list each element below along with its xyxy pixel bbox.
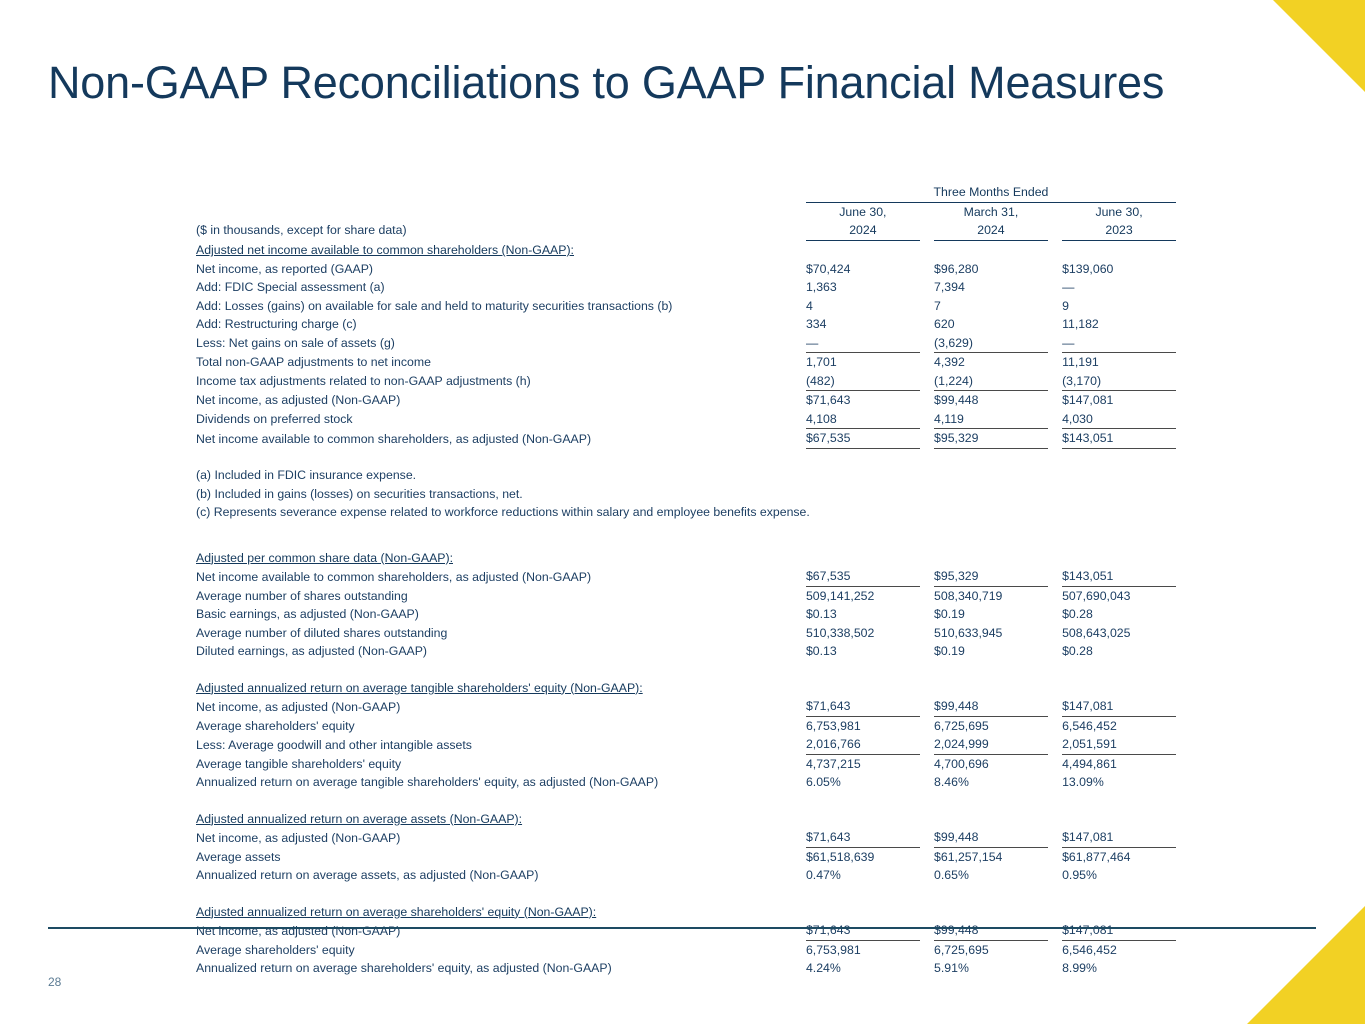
row-label: Net income, as reported (GAAP) [196, 260, 806, 279]
row-label: Net income available to common sharehold… [196, 567, 806, 586]
column-gap [1048, 866, 1062, 885]
row-value: $147,081 [1062, 921, 1176, 940]
row-value: 0.95% [1062, 866, 1176, 885]
spacer-row [196, 885, 1176, 903]
row-label: Annualized return on average assets, as … [196, 866, 806, 885]
spacer-row [196, 448, 1176, 466]
table-row: Average shareholders' equity6,753,9816,7… [196, 716, 1176, 735]
row-value: $147,081 [1062, 828, 1176, 847]
row-value: 508,340,719 [934, 586, 1048, 605]
table-row: Net income, as adjusted (Non-GAAP)$71,64… [196, 828, 1176, 847]
row-value: 4,494,861 [1062, 754, 1176, 773]
row-label: Add: Losses (gains) on available for sal… [196, 297, 806, 316]
row-value: 9 [1062, 297, 1176, 316]
column-gap [1048, 297, 1062, 316]
table-row: Average shareholders' equity6,753,9816,7… [196, 940, 1176, 959]
row-value: 0.47% [806, 866, 920, 885]
row-value: $96,280 [934, 260, 1048, 279]
column-gap [1048, 315, 1062, 334]
column-header-date-1: June 30, [806, 203, 920, 222]
column-gap [920, 959, 934, 978]
table-row: Total non-GAAP adjustments to net income… [196, 353, 1176, 372]
column-gap [1048, 429, 1062, 449]
column-header-row-2: ($ in thousands, except for share data)2… [196, 221, 1176, 240]
row-value: $99,448 [934, 697, 1048, 716]
units-note: ($ in thousands, except for share data) [196, 221, 806, 240]
row-value: 1,363 [806, 278, 920, 297]
spacer-row [196, 531, 1176, 549]
table-row: Net income, as adjusted (Non-GAAP)$71,64… [196, 697, 1176, 716]
row-label: Annualized return on average tangible sh… [196, 773, 806, 792]
spacer-row [196, 661, 1176, 679]
column-gap [920, 754, 934, 773]
column-header-year-1: 2024 [806, 221, 920, 240]
table-row: Net income available to common sharehold… [196, 429, 1176, 449]
column-gap [1048, 372, 1062, 391]
column-header-year-2: 2024 [934, 221, 1048, 240]
table-row: Add: FDIC Special assessment (a)1,3637,3… [196, 278, 1176, 297]
table-row: Average assets$61,518,639$61,257,154$61,… [196, 847, 1176, 866]
row-value: 4,030 [1062, 410, 1176, 429]
row-value: 11,191 [1062, 353, 1176, 372]
row-value: 620 [934, 315, 1048, 334]
column-gap [920, 866, 934, 885]
row-value: 6,753,981 [806, 716, 920, 735]
row-value: 5.91% [934, 959, 1048, 978]
row-label: Add: Restructuring charge (c) [196, 315, 806, 334]
section-heading-row: Adjusted annualized return on average sh… [196, 903, 1176, 922]
footer-divider [48, 927, 1316, 929]
column-gap [920, 567, 934, 586]
row-label: Basic earnings, as adjusted (Non-GAAP) [196, 605, 806, 624]
reconciliation-table: Three Months EndedJune 30,March 31,June … [196, 183, 1176, 978]
column-gap [1048, 391, 1062, 410]
row-label: Income tax adjustments related to non-GA… [196, 372, 806, 391]
row-value: $147,081 [1062, 391, 1176, 410]
column-gap [1048, 260, 1062, 279]
row-value: 8.46% [934, 773, 1048, 792]
row-value: 1,701 [806, 353, 920, 372]
row-value: 7 [934, 297, 1048, 316]
row-value: 510,338,502 [806, 624, 920, 643]
row-value: 2,024,999 [934, 735, 1048, 754]
column-gap [920, 697, 934, 716]
column-gap [1048, 773, 1062, 792]
table-row: Income tax adjustments related to non-GA… [196, 372, 1176, 391]
row-label: Average number of diluted shares outstan… [196, 624, 806, 643]
row-value: $99,448 [934, 828, 1048, 847]
row-value: 0.65% [934, 866, 1048, 885]
row-value: (3,170) [1062, 372, 1176, 391]
row-value: 4,737,215 [806, 754, 920, 773]
row-value: $71,643 [806, 697, 920, 716]
column-gap [920, 391, 934, 410]
column-gap [1048, 605, 1062, 624]
column-gap [1048, 586, 1062, 605]
column-gap [920, 847, 934, 866]
period-header-label: Three Months Ended [806, 183, 1176, 202]
row-label: Net income available to common sharehold… [196, 429, 806, 449]
column-gap [920, 773, 934, 792]
column-gap [920, 828, 934, 847]
column-gap [1048, 221, 1062, 240]
column-gap [1048, 624, 1062, 643]
column-gap [920, 372, 934, 391]
row-label: Diluted earnings, as adjusted (Non-GAAP) [196, 642, 806, 661]
column-gap [920, 334, 934, 353]
column-gap [1048, 828, 1062, 847]
row-value: 4,119 [934, 410, 1048, 429]
column-gap [1048, 278, 1062, 297]
row-value: $0.19 [934, 605, 1048, 624]
row-value: $143,051 [1062, 429, 1176, 449]
row-value: $71,643 [806, 828, 920, 847]
reconciliation-table-container: Three Months EndedJune 30,March 31,June … [196, 183, 1176, 978]
section-heading: Adjusted annualized return on average ta… [196, 679, 806, 698]
row-value: $99,448 [934, 391, 1048, 410]
row-value: $0.28 [1062, 642, 1176, 661]
row-label: Net income, as adjusted (Non-GAAP) [196, 828, 806, 847]
row-value: $61,877,464 [1062, 847, 1176, 866]
row-value: 6,753,981 [806, 940, 920, 959]
column-gap [920, 221, 934, 240]
row-value: $71,643 [806, 921, 920, 940]
row-value: 508,643,025 [1062, 624, 1176, 643]
footnote-row: (c) Represents severance expense related… [196, 503, 1176, 522]
column-gap [1048, 353, 1062, 372]
table-row: Less: Net gains on sale of assets (g)—(3… [196, 334, 1176, 353]
column-header-date-3: June 30, [1062, 203, 1176, 222]
row-label: Average tangible shareholders' equity [196, 754, 806, 773]
section-heading: Adjusted annualized return on average as… [196, 810, 806, 829]
row-value: 7,394 [934, 278, 1048, 297]
row-label: Average shareholders' equity [196, 940, 806, 959]
column-gap [920, 410, 934, 429]
row-label: Dividends on preferred stock [196, 410, 806, 429]
section-heading-row: Adjusted net income available to common … [196, 241, 1176, 260]
row-value: $95,329 [934, 429, 1048, 449]
row-value: $0.19 [934, 642, 1048, 661]
column-gap [920, 353, 934, 372]
row-value: 4 [806, 297, 920, 316]
section-heading: Adjusted net income available to common … [196, 241, 806, 260]
row-label: Net income, as adjusted (Non-GAAP) [196, 697, 806, 716]
column-gap [1048, 921, 1062, 940]
row-value: $67,535 [806, 567, 920, 586]
row-value: $0.28 [1062, 605, 1176, 624]
row-value: 6,725,695 [934, 716, 1048, 735]
column-gap [920, 278, 934, 297]
table-row: Dividends on preferred stock4,1084,1194,… [196, 410, 1176, 429]
column-gap [1048, 410, 1062, 429]
section-heading: Adjusted per common share data (Non-GAAP… [196, 549, 806, 568]
column-gap [920, 716, 934, 735]
row-value: $70,424 [806, 260, 920, 279]
section-heading-row: Adjusted annualized return on average ta… [196, 679, 1176, 698]
footnote-row: (b) Included in gains (losses) on securi… [196, 485, 1176, 504]
table-row: Net income, as adjusted (Non-GAAP)$71,64… [196, 921, 1176, 940]
table-row: Annualized return on average assets, as … [196, 866, 1176, 885]
table-row: Average number of shares outstanding509,… [196, 586, 1176, 605]
page-number: 28 [48, 975, 61, 989]
spacer-row [196, 522, 1176, 531]
section-heading-row: Adjusted annualized return on average as… [196, 810, 1176, 829]
row-value: 2,016,766 [806, 735, 920, 754]
row-value: — [1062, 278, 1176, 297]
row-value: 509,141,252 [806, 586, 920, 605]
row-value: 4,108 [806, 410, 920, 429]
row-label: Net income, as adjusted (Non-GAAP) [196, 921, 806, 940]
row-value: 8.99% [1062, 959, 1176, 978]
row-value: $139,060 [1062, 260, 1176, 279]
column-gap [1048, 716, 1062, 735]
page-title: Non-GAAP Reconciliations to GAAP Financi… [48, 55, 1198, 111]
row-value: $0.13 [806, 605, 920, 624]
column-gap [1048, 203, 1062, 222]
column-gap [920, 940, 934, 959]
row-value: 6,546,452 [1062, 716, 1176, 735]
column-gap [920, 315, 934, 334]
row-label: Add: FDIC Special assessment (a) [196, 278, 806, 297]
row-value: 334 [806, 315, 920, 334]
row-value: 4,700,696 [934, 754, 1048, 773]
footnote-row: (a) Included in FDIC insurance expense. [196, 466, 1176, 485]
column-gap [1048, 697, 1062, 716]
row-value: $147,081 [1062, 697, 1176, 716]
table-row: Diluted earnings, as adjusted (Non-GAAP)… [196, 642, 1176, 661]
column-gap [1048, 735, 1062, 754]
column-gap [920, 429, 934, 449]
column-gap [1048, 847, 1062, 866]
row-value: 510,633,945 [934, 624, 1048, 643]
column-header-row-1: June 30,March 31,June 30, [196, 203, 1176, 222]
table-row: Average tangible shareholders' equity4,7… [196, 754, 1176, 773]
top-right-accent-triangle [1273, 0, 1365, 92]
row-value: 11,182 [1062, 315, 1176, 334]
footnote-text: (b) Included in gains (losses) on securi… [196, 485, 1176, 504]
row-label: Net income, as adjusted (Non-GAAP) [196, 391, 806, 410]
table-row: Net income, as reported (GAAP)$70,424$96… [196, 260, 1176, 279]
row-value: 2,051,591 [1062, 735, 1176, 754]
column-gap [1048, 642, 1062, 661]
row-value: $95,329 [934, 567, 1048, 586]
row-label: Total non-GAAP adjustments to net income [196, 353, 806, 372]
table-row: Basic earnings, as adjusted (Non-GAAP)$0… [196, 605, 1176, 624]
table-row: Add: Losses (gains) on available for sal… [196, 297, 1176, 316]
column-gap [920, 203, 934, 222]
row-value: 6,725,695 [934, 940, 1048, 959]
column-gap [920, 586, 934, 605]
row-value: (482) [806, 372, 920, 391]
row-label: Annualized return on average shareholder… [196, 959, 806, 978]
column-gap [1048, 754, 1062, 773]
row-value: $143,051 [1062, 567, 1176, 586]
table-row: Net income available to common sharehold… [196, 567, 1176, 586]
table-row: Less: Average goodwill and other intangi… [196, 735, 1176, 754]
row-value: 4.24% [806, 959, 920, 978]
row-value: — [806, 334, 920, 353]
row-value: $0.13 [806, 642, 920, 661]
section-heading-row: Adjusted per common share data (Non-GAAP… [196, 549, 1176, 568]
row-value: $61,257,154 [934, 847, 1048, 866]
row-label: Average assets [196, 847, 806, 866]
table-row: Net income, as adjusted (Non-GAAP)$71,64… [196, 391, 1176, 410]
row-value: $67,535 [806, 429, 920, 449]
table-row: Annualized return on average shareholder… [196, 959, 1176, 978]
row-value: $71,643 [806, 391, 920, 410]
table-row: Average number of diluted shares outstan… [196, 624, 1176, 643]
table-row: Annualized return on average tangible sh… [196, 773, 1176, 792]
period-header-row: Three Months Ended [196, 183, 1176, 202]
row-value: 6.05% [806, 773, 920, 792]
row-value: 4,392 [934, 353, 1048, 372]
column-header-date-2: March 31, [934, 203, 1048, 222]
row-value: 6,546,452 [1062, 940, 1176, 959]
column-gap [1048, 334, 1062, 353]
column-gap [920, 642, 934, 661]
slide: Non-GAAP Reconciliations to GAAP Financi… [0, 0, 1365, 1024]
row-label: Average shareholders' equity [196, 716, 806, 735]
table-row: Add: Restructuring charge (c)33462011,18… [196, 315, 1176, 334]
row-value: (3,629) [934, 334, 1048, 353]
row-value: $99,448 [934, 921, 1048, 940]
row-value: — [1062, 334, 1176, 353]
header-spacer [196, 183, 806, 202]
row-label: Less: Net gains on sale of assets (g) [196, 334, 806, 353]
bottom-right-accent-triangle [1247, 906, 1365, 1024]
column-gap [1048, 567, 1062, 586]
row-value: (1,224) [934, 372, 1048, 391]
column-gap [920, 921, 934, 940]
footnote-text: (a) Included in FDIC insurance expense. [196, 466, 1176, 485]
column-header-year-3: 2023 [1062, 221, 1176, 240]
column-gap [920, 297, 934, 316]
row-value: 507,690,043 [1062, 586, 1176, 605]
column-gap [920, 735, 934, 754]
section-heading: Adjusted annualized return on average sh… [196, 903, 806, 922]
spacer-row [196, 792, 1176, 810]
column-gap [920, 624, 934, 643]
row-value: $61,518,639 [806, 847, 920, 866]
column-gap [920, 605, 934, 624]
column-gap [1048, 959, 1062, 978]
row-label: Less: Average goodwill and other intangi… [196, 735, 806, 754]
column-gap [920, 260, 934, 279]
row-label: Average number of shares outstanding [196, 586, 806, 605]
footnote-text: (c) Represents severance expense related… [196, 503, 1176, 522]
row-value: 13.09% [1062, 773, 1176, 792]
column-gap [1048, 940, 1062, 959]
